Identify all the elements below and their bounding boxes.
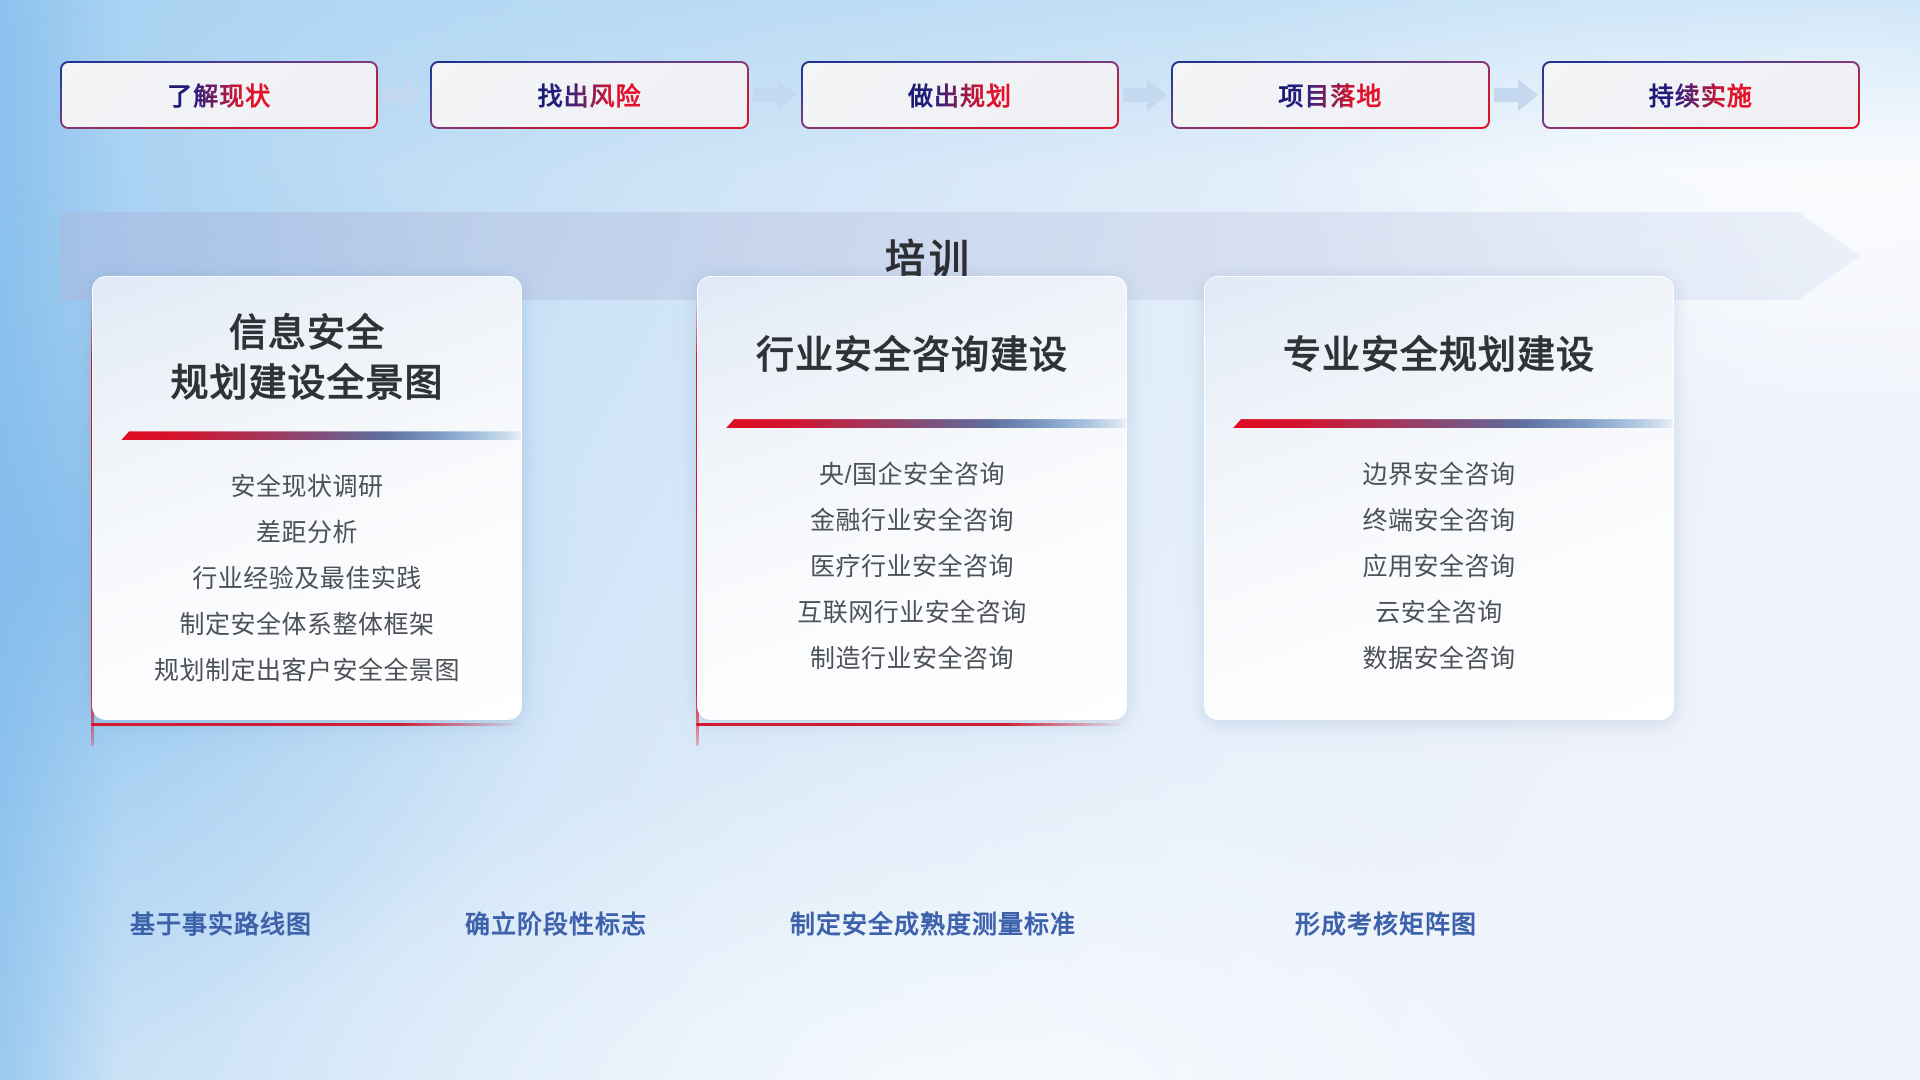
flow-arrow-icon-2 [749, 78, 801, 112]
list-item: 应用安全咨询 [1362, 545, 1515, 591]
flow-step-2[interactable]: 找出风险 [430, 61, 748, 129]
card-group: 信息安全 规划建设全景图 安全现状调研 差距分析 行业经验及最佳实践 制定安全体… [92, 276, 1852, 718]
card-2-accent-line-bottom [696, 723, 1124, 726]
caption-4: 形成考核矩阵图 [1295, 905, 1477, 941]
list-item: 互联网行业安全咨询 [797, 591, 1027, 637]
card-1-list: 安全现状调研 差距分析 行业经验及最佳实践 制定安全体系整体框架 规划制定出客户… [93, 465, 521, 695]
flow-step-1-label: 了解现状 [167, 77, 271, 113]
list-item: 差距分析 [256, 511, 358, 557]
list-item: 制定安全体系整体框架 [179, 603, 434, 649]
caption-2: 确立阶段性标志 [465, 905, 647, 941]
card-wrapper-1: 信息安全 规划建设全景图 安全现状调研 差距分析 行业经验及最佳实践 制定安全体… [92, 276, 520, 718]
caption-3: 制定安全成熟度测量标准 [790, 905, 1076, 941]
list-item: 制造行业安全咨询 [810, 637, 1014, 683]
list-item: 安全现状调研 [230, 465, 383, 511]
flow-step-1[interactable]: 了解现状 [60, 61, 378, 129]
list-item: 边界安全咨询 [1362, 453, 1515, 499]
card-3-divider [1205, 415, 1673, 431]
list-item: 医疗行业安全咨询 [810, 545, 1014, 591]
card-2-list: 央/国企安全咨询 金融行业安全咨询 医疗行业安全咨询 互联网行业安全咨询 制造行… [698, 453, 1126, 683]
card-3-title-line-1: 专业安全规划建设 [1283, 331, 1595, 381]
flow-step-5-label: 持续实施 [1649, 77, 1753, 113]
list-item: 终端安全咨询 [1362, 499, 1515, 545]
process-flow: 了解现状 找出风险 做出规划 项目落地 持续实施 [60, 62, 1860, 128]
flow-step-4-label: 项目落地 [1278, 77, 1382, 113]
card-wrapper-3: 专业安全规划建设 边界安全咨询 终端安全咨询 应用安全咨询 云安全咨询 数据安全… [1204, 276, 1672, 718]
card-3-list: 边界安全咨询 终端安全咨询 应用安全咨询 云安全咨询 数据安全咨询 [1205, 453, 1673, 683]
card-3-divider-bar [1233, 419, 1673, 428]
list-item: 云安全咨询 [1375, 591, 1503, 637]
card-2-divider-bar [726, 419, 1126, 428]
flow-arrow-icon-1 [378, 78, 430, 112]
card-3[interactable]: 专业安全规划建设 边界安全咨询 终端安全咨询 应用安全咨询 云安全咨询 数据安全… [1204, 276, 1674, 720]
card-1-accent-line-bottom [91, 723, 519, 726]
card-2[interactable]: 行业安全咨询建设 央/国企安全咨询 金融行业安全咨询 医疗行业安全咨询 互联网行… [697, 276, 1127, 720]
flow-step-3[interactable]: 做出规划 [801, 61, 1119, 129]
card-3-title: 专业安全规划建设 [1283, 331, 1595, 381]
list-item: 央/国企安全咨询 [819, 453, 1005, 499]
card-1-title-line-2: 规划建设全景图 [170, 359, 443, 409]
list-item: 数据安全咨询 [1362, 637, 1515, 683]
caption-1: 基于事实路线图 [130, 905, 312, 941]
card-1-title: 信息安全 规划建设全景图 [170, 309, 443, 409]
flow-step-5[interactable]: 持续实施 [1542, 61, 1860, 129]
card-1-divider [93, 427, 521, 443]
flow-arrow-icon-3 [1119, 78, 1171, 112]
card-2-title-line-1: 行业安全咨询建设 [756, 331, 1068, 381]
flow-step-3-label: 做出规划 [908, 77, 1012, 113]
card-2-divider [698, 415, 1126, 431]
list-item: 行业经验及最佳实践 [192, 557, 422, 603]
caption-row: 基于事实路线图 确立阶段性标志 制定安全成熟度测量标准 形成考核矩阵图 [0, 905, 1920, 955]
flow-step-4[interactable]: 项目落地 [1171, 61, 1489, 129]
list-item: 金融行业安全咨询 [810, 499, 1014, 545]
card-1[interactable]: 信息安全 规划建设全景图 安全现状调研 差距分析 行业经验及最佳实践 制定安全体… [92, 276, 522, 720]
card-1-title-line-1: 信息安全 [170, 309, 443, 359]
flow-arrow-icon-4 [1490, 78, 1542, 112]
card-2-title: 行业安全咨询建设 [756, 331, 1068, 381]
card-wrapper-2: 行业安全咨询建设 央/国企安全咨询 金融行业安全咨询 医疗行业安全咨询 互联网行… [697, 276, 1125, 718]
card-1-divider-bar [121, 431, 521, 440]
flow-step-2-label: 找出风险 [538, 77, 642, 113]
list-item: 规划制定出客户安全全景图 [154, 649, 460, 695]
